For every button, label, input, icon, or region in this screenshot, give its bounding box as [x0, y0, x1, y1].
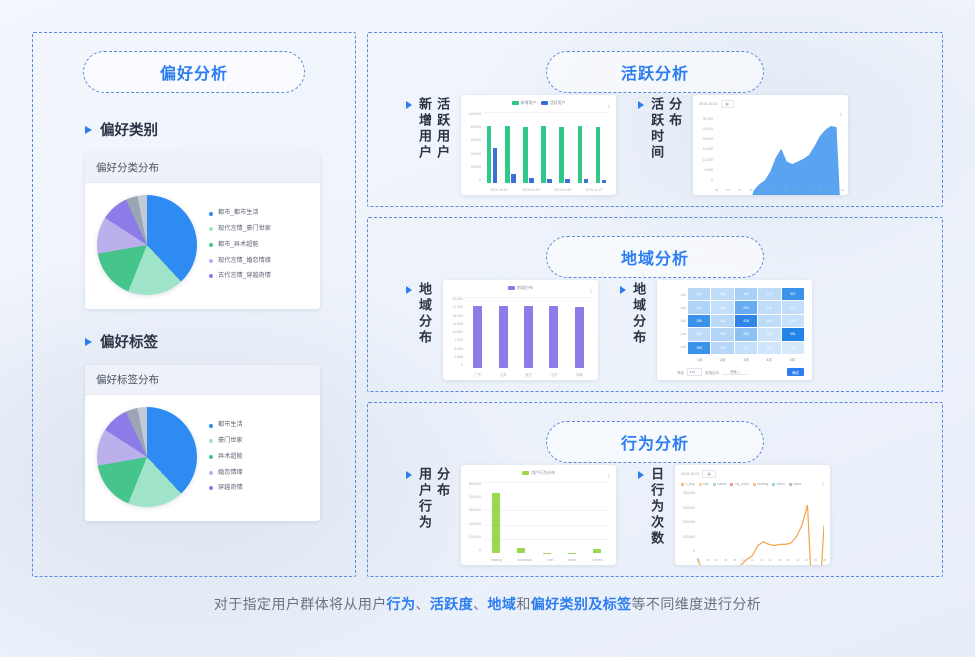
- x-tick: 22: [841, 189, 844, 192]
- x-tick: 06: [724, 559, 727, 562]
- legend-dot-icon: [772, 483, 775, 486]
- heatmap-cell[interactable]: 164: [688, 301, 710, 313]
- spacer: [85, 309, 355, 331]
- x-tick: 00: [715, 189, 718, 192]
- card-preference-tag-distribution[interactable]: 偏好标签分布 都市生活 豪门世家 异术超能 婚恋情缘 穿越奇情: [85, 365, 320, 521]
- x-tick: 广东: [474, 372, 481, 377]
- download-icon[interactable]: ⤓: [608, 473, 610, 479]
- calendar-icon[interactable]: ▦: [721, 100, 734, 108]
- vertical-label-b: 分布: [435, 467, 449, 531]
- chart-user-behavior-bar[interactable]: 用户行为分布 ⤓ 500,000 400,000 300,000 200,000…: [461, 465, 616, 565]
- heatmap-cell[interactable]: 183: [711, 328, 733, 340]
- x-tick: 04: [738, 189, 741, 192]
- legend-item[interactable]: my_show: [730, 482, 748, 486]
- bar-group: [499, 297, 508, 368]
- x-tick: cart: [547, 558, 553, 562]
- legend-dot-icon: [699, 483, 702, 486]
- legend-label: 穿越奇情: [218, 485, 243, 491]
- legend-item: 现代言情_婚恋情缘: [209, 258, 312, 264]
- legend-swatch-icon: [508, 286, 515, 290]
- legend-item[interactable]: share: [789, 482, 802, 486]
- legend-swatch-icon: [522, 471, 529, 475]
- behavior-row: 用户行为 分布 用户行为分布 ⤓ 500,000 400,000 300,000: [368, 465, 942, 570]
- legend-label: 新增用户: [521, 100, 537, 106]
- y-tick: Lv5: [675, 345, 686, 349]
- cell-value: 164: [696, 306, 702, 310]
- cell-value: 398: [696, 346, 702, 350]
- cell-value: 127: [767, 346, 773, 350]
- bar-group: [487, 112, 498, 183]
- legend-swatch-icon: [512, 101, 519, 105]
- chart-legend: 1_buy cart collect my_show reading liste…: [681, 481, 824, 487]
- legend-label: listen: [777, 482, 785, 486]
- legend-item: 古代言情_穿越奇情: [209, 273, 312, 279]
- y-tick: 80,000: [464, 125, 481, 129]
- section-heading-preference-category: 偏好类别: [85, 119, 355, 140]
- legend-item: 都市_异术超能: [209, 242, 312, 248]
- bar-group: [473, 297, 482, 368]
- bar-new: [596, 127, 601, 183]
- card-preference-category-distribution[interactable]: 偏好分类分布 都市_都市生活 现代言情_豪门世家 都市_异术超能 现代言情_婚恋…: [85, 153, 320, 309]
- filter-input[interactable]: 请输入: [722, 369, 748, 375]
- cell-value: 141: [696, 292, 702, 296]
- legend-label: reading: [757, 482, 768, 486]
- heatmap-cell[interactable]: 143: [782, 315, 804, 327]
- x-tick: 08: [733, 559, 736, 562]
- y-tick: 25,000: [696, 127, 713, 131]
- chart-legend: 用户行为分布: [461, 470, 616, 476]
- region-item-distribution-bar: 地域分布 地域分布 ⤓ 20,000 17,500 15,000 12,500: [406, 280, 598, 380]
- caption-part2: 等不同维度进行分析: [632, 596, 762, 612]
- panel-behavior-analysis: 行为分析 用户行为 分布 用户行为分布 ⤓: [367, 402, 943, 577]
- legend-dot-icon: [209, 486, 213, 490]
- y-tick: 400,000: [678, 491, 695, 495]
- plot-area: [697, 491, 824, 554]
- bar: [524, 306, 533, 368]
- heatmap-grid: 141 156 184 173 321 164 146 265 148 152: [688, 288, 804, 354]
- x-tick: 22: [796, 559, 799, 562]
- heatmap-cell[interactable]: 398: [688, 342, 710, 354]
- panel-title-behavior: 行为分析: [546, 421, 764, 463]
- heatmap-cell[interactable]: 152: [782, 301, 804, 313]
- vertical-label-a: 地域分布: [631, 282, 645, 346]
- caption-sep2: 、: [473, 596, 487, 612]
- cell-value: 146: [720, 306, 726, 310]
- legend-swatch-icon: [541, 101, 548, 105]
- bar-group: [596, 112, 607, 183]
- x-tick: share: [568, 558, 576, 562]
- heatmap-wrap: Lv1 Lv2 Lv3 Lv4 Lv5 141 156 184 173: [675, 288, 804, 354]
- bar-active: [529, 178, 534, 183]
- footer-caption: 对于指定用户群体将从用户行为、活跃度、地域和偏好类别及标签等不同维度进行分析: [0, 594, 975, 614]
- activity-item-active-time: 活跃时间 分布 2019-10-01 ▦ ⤓ 30,000 25,000: [638, 95, 848, 195]
- pie-slices: [97, 195, 197, 295]
- x-tick: 18: [778, 559, 781, 562]
- activity-item-new-active-users: 新增用户 活跃用户 新增用户 活跃用户 ⤓ 100,000 80,000: [406, 95, 616, 195]
- card-title: 偏好标签分布: [85, 365, 320, 395]
- heatmap-cell[interactable]: 266: [735, 328, 757, 340]
- bar: [549, 306, 558, 368]
- cell-value: 428: [743, 319, 749, 323]
- heatmap-cell[interactable]: 148: [758, 301, 780, 313]
- bar-group: [543, 482, 551, 553]
- vertical-text-cols: 活跃时间 分布: [649, 97, 681, 161]
- legend-label: collect: [717, 482, 726, 486]
- y-tick: 0: [464, 178, 481, 182]
- preference-body: 偏好类别 偏好分类分布 都市_都市生活 现代言情_豪门世家 都市_异术超能 现代…: [33, 33, 355, 521]
- legend-item[interactable]: 1_buy: [681, 482, 694, 486]
- x-tick: 08: [761, 189, 764, 192]
- legend-label: 异术超能: [218, 454, 243, 460]
- y-tick: 20,000: [464, 165, 481, 169]
- y-axis-labels: 100,000 80,000 60,000 40,000 20,000 0: [464, 112, 481, 182]
- x-tick: 20: [787, 559, 790, 562]
- triangle-bullet-icon: [406, 286, 412, 294]
- cell-value: 265: [743, 306, 749, 310]
- caption-sep1: 、: [415, 596, 429, 612]
- caption-em-behavior: 行为: [387, 596, 416, 612]
- legend-dot-icon: [209, 212, 213, 216]
- x-axis-labels: 00 02 04 06 08 10 12 14 16 18 20 22: [697, 559, 826, 562]
- card-title: 偏好分类分布: [85, 153, 320, 183]
- legend-dot-icon: [209, 274, 213, 278]
- chart-legend: 新增用户 活跃用户: [461, 100, 616, 106]
- bar-new: [541, 126, 546, 183]
- bar-active: [584, 179, 589, 183]
- x-tick: 2019-10-15: [522, 188, 539, 192]
- heatmap-cell[interactable]: 117: [782, 342, 804, 354]
- bar: [575, 307, 584, 368]
- vertical-label-group: 活跃时间 分布: [638, 95, 681, 161]
- download-icon[interactable]: ⤓: [822, 481, 824, 487]
- cell-value: 156: [720, 292, 726, 296]
- x-tick: 14: [795, 189, 798, 192]
- legend-item[interactable]: collect: [713, 482, 727, 486]
- x-tick: 浙江: [525, 372, 532, 377]
- cell-value: 286: [696, 319, 702, 323]
- area-series: [715, 117, 842, 195]
- download-icon[interactable]: ⤓: [608, 103, 610, 109]
- legend-item: 异术超能: [209, 454, 312, 460]
- legend-label: 婚恋情缘: [218, 470, 243, 476]
- y-tick: 10,000: [446, 330, 463, 334]
- bar: [473, 306, 482, 368]
- cell-value: 266: [743, 332, 749, 336]
- legend-item[interactable]: cart: [699, 482, 709, 486]
- bar-group: [578, 112, 589, 183]
- x-tick: 2019-11-27: [586, 188, 603, 192]
- triangle-bullet-icon: [406, 101, 412, 109]
- bar-group: [568, 482, 576, 553]
- legend-label: 现代言情_婚恋情缘: [218, 258, 271, 264]
- bar-active: [547, 179, 552, 183]
- x-tick: 山东: [551, 372, 558, 377]
- triangle-bullet-icon: [85, 126, 92, 134]
- cell-value: 148: [767, 306, 773, 310]
- panel-preference-analysis: 偏好分析 偏好类别 偏好分类分布 都市_都市生活 现代言情_豪门世家 都市_异术…: [32, 32, 356, 577]
- y-axis-labels: 400,000 300,000 200,000 100,000 0: [678, 491, 695, 553]
- heatmap-cell[interactable]: 173: [758, 288, 780, 300]
- y-tick: 10,000: [696, 158, 713, 162]
- y-tick: 20,000: [696, 137, 713, 141]
- bar-group: [549, 297, 558, 368]
- panel-title-region: 地域分析: [546, 236, 764, 278]
- triangle-bullet-icon: [638, 471, 644, 479]
- legend-dot-icon: [681, 483, 684, 486]
- y-axis-labels: 500,000 400,000 300,000 200,000 100,000 …: [464, 482, 481, 552]
- legend-label: 都市_异术超能: [218, 242, 259, 248]
- card-body: 都市_都市生活 现代言情_豪门世家 都市_异术超能 现代言情_婚恋情缘 古代言情…: [85, 183, 320, 309]
- legend-dot-icon: [209, 439, 213, 443]
- bar-group: [559, 112, 570, 183]
- vertical-label-b: 分布: [667, 97, 681, 161]
- legend-label: 都市生活: [218, 422, 243, 428]
- y-tick: 500,000: [464, 482, 481, 486]
- pie-legend-preference-category: 都市_都市生活 现代言情_豪门世家 都市_异术超能 现代言情_婚恋情缘 古代言情…: [201, 210, 312, 279]
- x-tick: download: [517, 558, 532, 562]
- y-tick: 15,000: [696, 147, 713, 151]
- x-tick: 4月: [766, 358, 772, 363]
- x-tick: 3月: [743, 358, 749, 363]
- legend-label: share: [793, 482, 801, 486]
- x-tick: 28: [823, 559, 826, 562]
- legend-label: 古代言情_穿越奇情: [218, 273, 271, 279]
- heatmap-cell[interactable]: 155: [688, 328, 710, 340]
- x-tick: 00: [697, 559, 700, 562]
- pie-chart-preference-category: [93, 191, 201, 299]
- x-tick: reading: [491, 558, 502, 562]
- x-tick: 16: [769, 559, 772, 562]
- filter-select-value: Lv1: [690, 370, 695, 374]
- x-tick: 04: [715, 559, 718, 562]
- filter-select[interactable]: Lv1: [687, 368, 702, 376]
- download-icon[interactable]: ⤓: [590, 288, 592, 294]
- vertical-text-cols: 新增用户 活跃用户: [417, 97, 449, 161]
- bar-group: [593, 482, 601, 553]
- x-axis-labels: 广东 江苏 浙江 山东 河南: [465, 372, 592, 377]
- legend-dot-icon: [753, 483, 756, 486]
- vertical-label-group: 新增用户 活跃用户: [406, 95, 449, 161]
- x-tick: 02: [727, 189, 730, 192]
- behavior-item-user-behavior: 用户行为 分布 用户行为分布 ⤓ 500,000 400,000 300,000: [406, 465, 616, 565]
- x-tick: 1月: [697, 358, 703, 363]
- cell-value: 162: [720, 319, 726, 323]
- bar-series: [483, 112, 610, 183]
- y-tick: 300,000: [464, 508, 481, 512]
- cell-value: 155: [696, 332, 702, 336]
- plot-area: [715, 117, 842, 183]
- legend-item[interactable]: listen: [772, 482, 784, 486]
- chart-active-time-area[interactable]: 2019-10-01 ▦ ⤓ 30,000 25,000 20,000 15,0…: [693, 95, 848, 195]
- bar-group: [505, 112, 516, 183]
- panel-region-analysis: 地域分析 地域分布 地域分布 ⤓ 2: [367, 217, 943, 392]
- heatmap-cell[interactable]: 184: [735, 288, 757, 300]
- region-item-distribution-heatmap: 地域分布 Lv1 Lv2 Lv3 Lv4 Lv5: [620, 280, 812, 380]
- x-tick: 14: [760, 559, 763, 562]
- legend-label: 现代言情_豪门世家: [218, 226, 271, 232]
- cell-value: 147: [743, 346, 749, 350]
- heatmap-cell[interactable]: 146: [711, 301, 733, 313]
- legend-item[interactable]: reading: [753, 482, 769, 486]
- y-tick: 100,000: [464, 535, 481, 539]
- heatmap-cell[interactable]: 165: [711, 342, 733, 354]
- bar-active: [493, 148, 498, 184]
- caption-em-activity: 活跃度: [430, 596, 473, 612]
- legend-label: my_show: [735, 482, 749, 486]
- heatmap-cell[interactable]: 141: [688, 288, 710, 300]
- calendar-icon[interactable]: ▦: [702, 470, 715, 478]
- legend-item: 新增用户: [512, 100, 537, 106]
- legend-item: 豪门世家: [209, 438, 312, 444]
- plot-area: [465, 297, 592, 368]
- legend-dot-icon: [713, 483, 716, 486]
- legend-item: 婚恋情缘: [209, 470, 312, 476]
- cell-value: 173: [767, 292, 773, 296]
- panel-title-preference: 偏好分析: [83, 51, 305, 93]
- vertical-label-a: 日行为次数: [649, 467, 663, 547]
- y-tick: Lv3: [675, 319, 686, 323]
- heatmap-cell[interactable]: 428: [735, 315, 757, 327]
- legend-dot-icon: [209, 424, 213, 428]
- y-tick: 60,000: [464, 138, 481, 142]
- vertical-label-a: 新增用户: [417, 97, 431, 161]
- section-heading-preference-tag: 偏好标签: [85, 331, 355, 352]
- bar-new: [505, 126, 510, 183]
- vertical-text-cols: 用户行为 分布: [417, 467, 449, 531]
- y-tick: 100,000: [678, 535, 695, 539]
- pie-slices: [97, 407, 197, 507]
- heatmap-cell[interactable]: 286: [688, 315, 710, 327]
- y-tick: 200,000: [678, 520, 695, 524]
- y-tick: 7,500: [446, 338, 463, 342]
- x-tick: 江苏: [500, 372, 507, 377]
- bar-new: [559, 127, 564, 183]
- heatmap-cell[interactable]: 321: [782, 288, 804, 300]
- chart-toolbar[interactable]: 2019-10-01 ▦: [699, 100, 734, 108]
- x-tick: 16: [807, 189, 810, 192]
- bar: [492, 493, 500, 553]
- heatmap-filter-bar: 筛选 Lv1 数值区间 请输入 确定: [677, 368, 804, 376]
- x-tick: 2019-11-05: [554, 188, 571, 192]
- x-tick: 02: [706, 559, 709, 562]
- caption-em-region: 地域: [488, 596, 517, 612]
- cell-value: 183: [720, 332, 726, 336]
- legend-dot-icon: [209, 259, 213, 263]
- heatmap-cell[interactable]: 265: [735, 301, 757, 313]
- legend-label: 都市_都市生活: [218, 210, 259, 216]
- bar-group: [541, 112, 552, 183]
- x-tick: 10: [772, 189, 775, 192]
- bar-active: [511, 174, 516, 183]
- legend-dot-icon: [209, 455, 213, 459]
- heatmap-cell[interactable]: 127: [758, 342, 780, 354]
- filter-mid-label: 数值区间: [705, 370, 719, 375]
- heatmap-cell[interactable]: 134: [758, 328, 780, 340]
- legend-item: 活跃用户: [541, 100, 566, 106]
- y-tick: 20,000: [446, 297, 463, 301]
- x-tick: 06: [749, 189, 752, 192]
- bar: [593, 549, 601, 553]
- heatmap-cell[interactable]: 351: [782, 328, 804, 340]
- y-tick: 0: [696, 178, 713, 182]
- cell-value: 117: [790, 346, 795, 350]
- cell-value: 165: [720, 346, 726, 350]
- vertical-label-group: 地域分布: [406, 280, 431, 346]
- chart-legend: 地域分布: [443, 285, 598, 291]
- y-tick: 0: [678, 549, 695, 553]
- x-tick: 2月: [720, 358, 726, 363]
- legend-item: 地域分布: [508, 285, 533, 291]
- chart-region-heatmap[interactable]: Lv1 Lv2 Lv3 Lv4 Lv5 141 156 184 173: [657, 280, 812, 380]
- vertical-label-a: 用户行为: [417, 467, 431, 531]
- bar-group: [523, 112, 534, 183]
- x-tick: 20: [830, 189, 833, 192]
- plot-area: [483, 482, 610, 553]
- x-axis-labels: reading download cart share Others: [483, 558, 610, 562]
- y-tick: Lv4: [675, 332, 686, 336]
- line-series: [697, 491, 824, 565]
- heatmap-cell[interactable]: 147: [735, 342, 757, 354]
- bar-active: [602, 180, 607, 183]
- vertical-text-cols: 日行为次数: [649, 467, 663, 547]
- cell-value: 152: [790, 306, 796, 310]
- triangle-bullet-icon: [85, 338, 92, 346]
- panel-activity-analysis: 活跃分析 新增用户 活跃用户 新增用户 活跃用户: [367, 32, 943, 207]
- heatmap-cell[interactable]: 156: [711, 288, 733, 300]
- legend-item: 都市生活: [209, 422, 312, 428]
- legend-label: 活跃用户: [550, 100, 566, 106]
- panel-title-activity: 活跃分析: [546, 51, 764, 93]
- chart-toolbar[interactable]: 2019-10-01 ▦: [681, 470, 716, 478]
- card-body: 都市生活 豪门世家 异术超能 婚恋情缘 穿越奇情: [85, 395, 320, 521]
- bar-group: [492, 482, 500, 553]
- vertical-label-group: 用户行为 分布: [406, 465, 449, 531]
- y-tick: 5,000: [446, 347, 463, 351]
- y-axis-labels: 20,000 17,500 15,000 12,500 10,000 7,500…: [446, 297, 463, 367]
- chart-region-distribution-bar[interactable]: 地域分布 ⤓ 20,000 17,500 15,000 12,500 10,00…: [443, 280, 598, 380]
- x-tick: 18: [818, 189, 821, 192]
- x-tick: Others: [592, 558, 602, 562]
- y-tick: 100,000: [464, 112, 481, 116]
- x-tick: 河南: [576, 372, 583, 377]
- filter-label: 筛选: [677, 370, 684, 375]
- y-tick: Lv2: [675, 306, 686, 310]
- heatmap-x-labels: 1月 2月 3月 4月 5月: [688, 358, 804, 363]
- legend-item: 用户行为分布: [522, 470, 555, 476]
- heatmap-y-labels: Lv1 Lv2 Lv3 Lv4 Lv5: [675, 288, 688, 354]
- date-value: 2019-10-01: [681, 472, 699, 476]
- cell-value: 321: [790, 292, 796, 296]
- chart-new-active-users-bar[interactable]: 新增用户 活跃用户 ⤓ 100,000 80,000 60,000 40,000…: [461, 95, 616, 195]
- caption-mid: 和: [516, 596, 530, 612]
- y-tick: 0: [464, 548, 481, 552]
- heatmap-cell[interactable]: 162: [711, 315, 733, 327]
- cell-value: 184: [743, 292, 749, 296]
- y-tick: 40,000: [464, 152, 481, 156]
- heatmap-cell[interactable]: 156: [758, 315, 780, 327]
- y-tick: 300,000: [678, 506, 695, 510]
- legend-dot-icon: [209, 243, 213, 247]
- chart-daily-behavior-line[interactable]: 2019-10-01 ▦ 1_buy cart collect my_show …: [675, 465, 830, 565]
- bar-group: [517, 482, 525, 553]
- y-axis-labels: 30,000 25,000 20,000 15,000 10,000 5,000…: [696, 117, 713, 182]
- confirm-button[interactable]: 确定: [787, 368, 804, 376]
- date-range-value: 2019-10-01: [699, 102, 717, 106]
- bar-group: [524, 297, 533, 368]
- y-tick: Lv1: [675, 293, 686, 297]
- x-tick: 10: [742, 559, 745, 562]
- triangle-bullet-icon: [406, 471, 412, 479]
